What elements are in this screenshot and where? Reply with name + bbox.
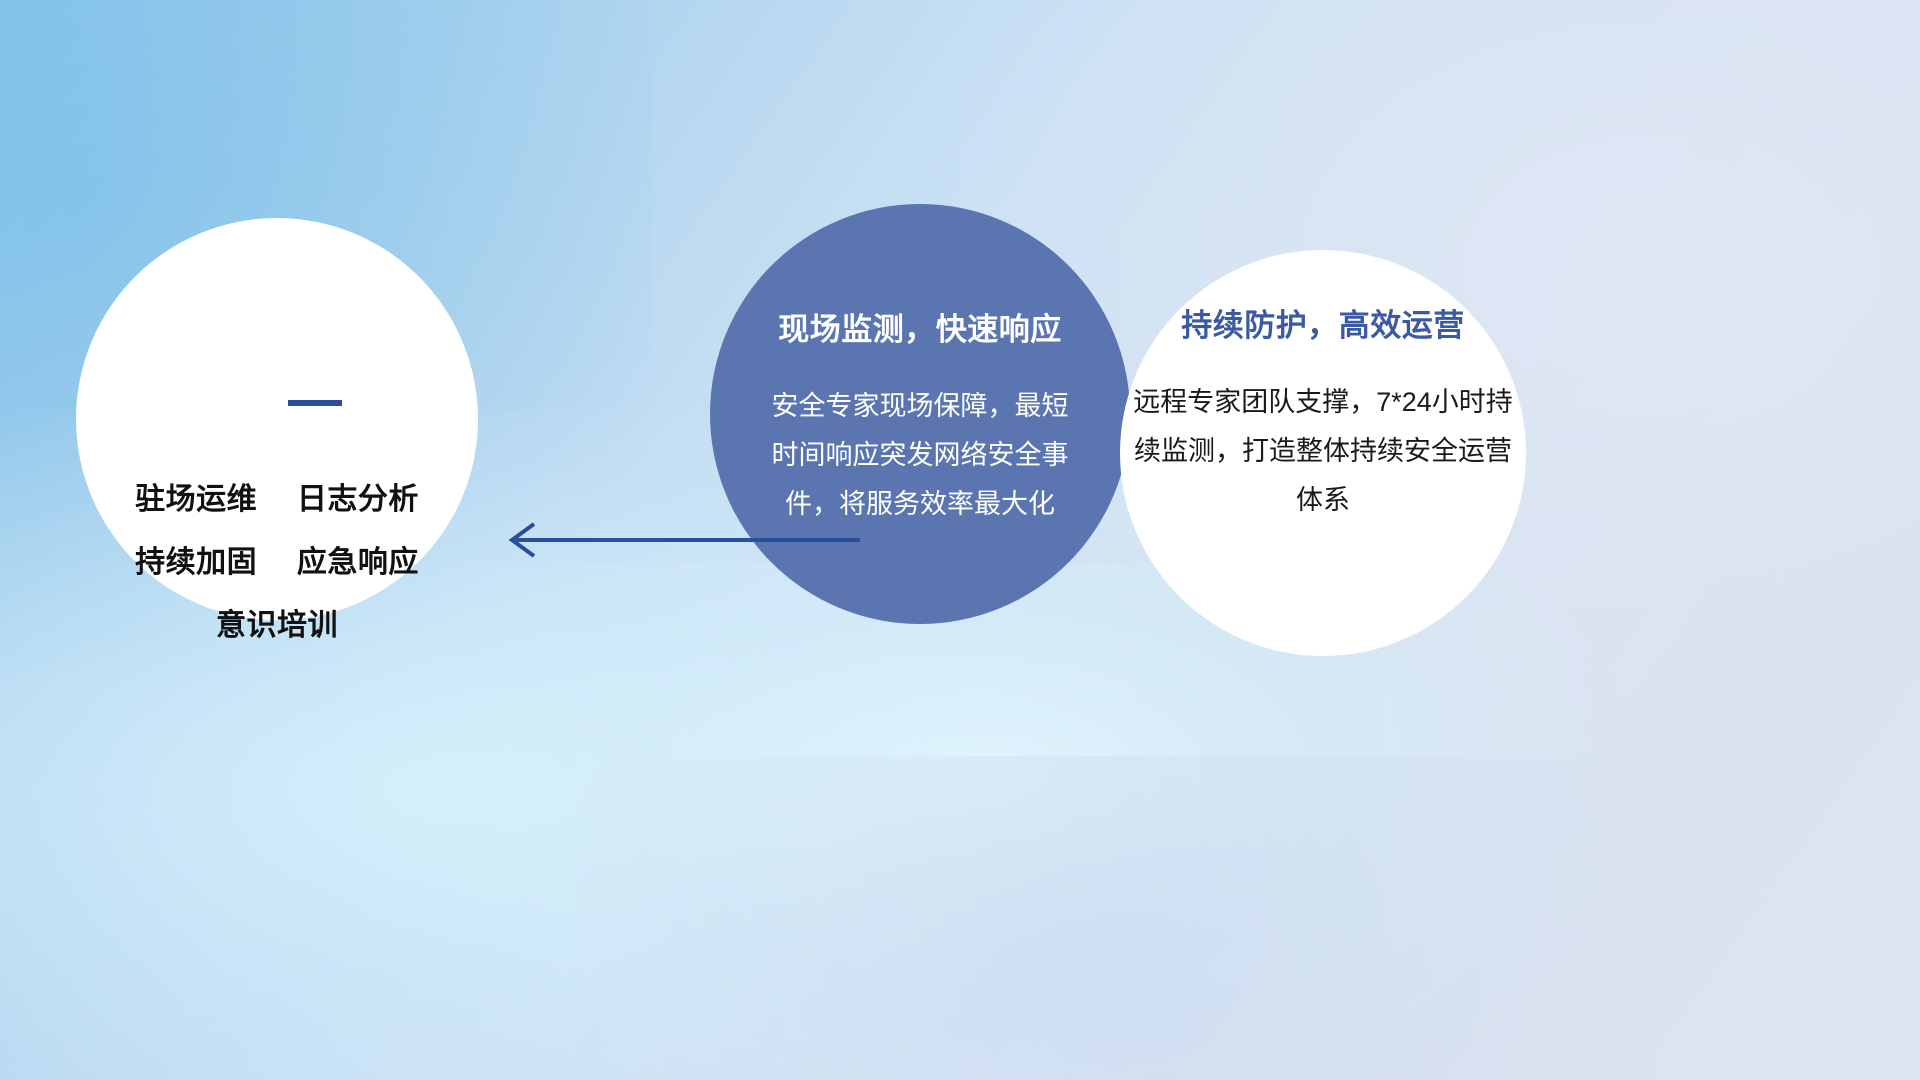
- left-circle-content: 驻场运维 日志分析 持续加固 应急响应 意识培训: [76, 218, 478, 620]
- service-keyword: 驻场运维: [135, 483, 257, 516]
- accent-dash: [288, 400, 342, 406]
- service-keyword-row: 驻场运维 日志分析: [76, 468, 478, 531]
- service-keyword: 持续加固: [135, 546, 257, 579]
- right-circle-content: 持续防护，高效运营 远程专家团队支撑，7*24小时持续监测，打造整体持续安全运营…: [1120, 250, 1526, 656]
- middle-circle-heading: 现场监测，快速响应: [710, 304, 1130, 349]
- service-keyword-row: 持续加固 应急响应: [76, 531, 478, 594]
- slide-canvas: 驻场运维 日志分析 持续加固 应急响应 意识培训 现场监测，快速响应 安全专家现…: [0, 0, 1920, 1080]
- service-keyword: 应急响应: [297, 546, 419, 579]
- middle-circle-body: 安全专家现场保障，最短时间响应突发网络安全事件，将服务效率最大化: [762, 382, 1078, 529]
- middle-circle-content: 现场监测，快速响应 安全专家现场保障，最短时间响应突发网络安全事件，将服务效率最…: [710, 204, 1130, 624]
- background-glow-bottom: [576, 756, 1651, 1080]
- service-keyword-list: 驻场运维 日志分析 持续加固 应急响应 意识培训: [76, 468, 478, 657]
- service-keyword-row: 意识培训: [76, 594, 478, 657]
- service-keyword: 日志分析: [297, 483, 419, 516]
- right-circle-heading: 持续防护，高效运营: [1120, 300, 1526, 345]
- right-circle-body: 远程专家团队支撑，7*24小时持续监测，打造整体持续安全运营体系: [1130, 378, 1516, 525]
- service-keyword: 意识培训: [216, 609, 338, 642]
